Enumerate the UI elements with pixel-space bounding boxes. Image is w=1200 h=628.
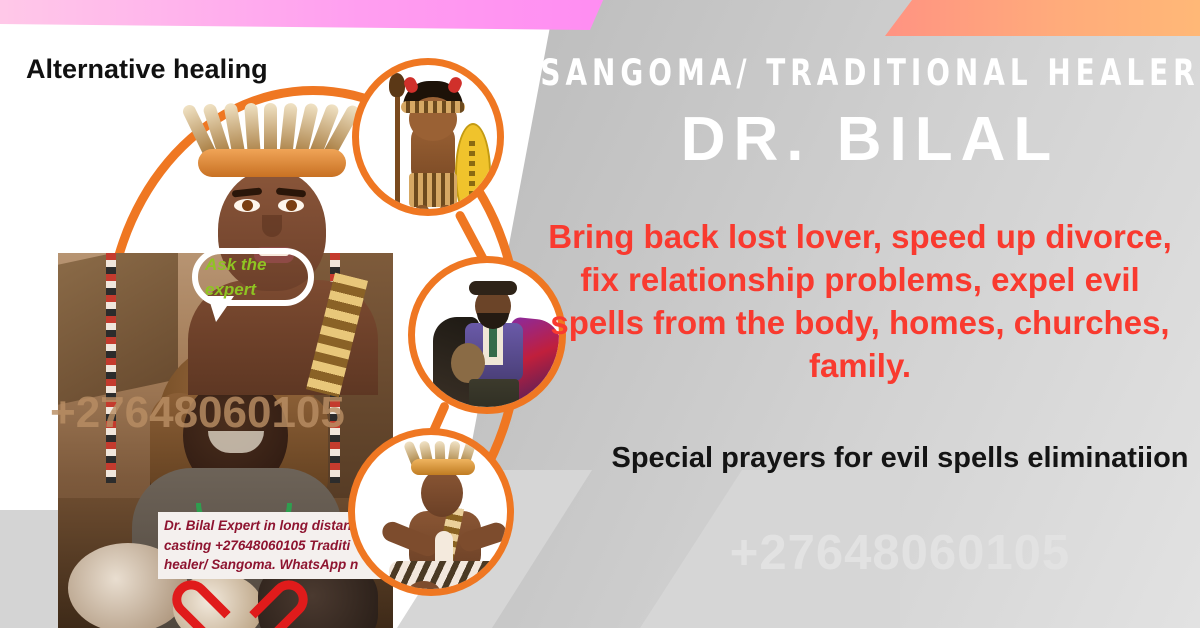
healer-man-sack xyxy=(451,343,485,383)
speech-bubble-text: Ask the expert xyxy=(205,253,315,302)
circle-image-zulu-warrior xyxy=(352,58,504,216)
headline-block: SANGOMA/ TRADITIONAL HEALER DR. BILAL xyxy=(540,52,1200,175)
portrait-nose xyxy=(262,215,282,237)
healer-man-hat xyxy=(469,281,517,295)
page-title: Alternative healing xyxy=(26,54,268,85)
circle-image-crouching-sangoma xyxy=(348,428,514,596)
services-black-text: Special prayers for evil spells eliminat… xyxy=(600,440,1200,477)
warrior-spear-tip xyxy=(389,73,405,97)
healer-man-legs xyxy=(469,379,519,414)
photo-caption-line-3: healer/ Sangoma. WhatsApp n xyxy=(164,555,379,575)
sangoma-head xyxy=(421,469,463,517)
portrait-headband xyxy=(198,149,346,177)
warrior-shield xyxy=(455,123,491,216)
portrait-eye-left xyxy=(234,199,260,212)
warrior-headband xyxy=(401,101,465,113)
decorative-orange-band xyxy=(885,0,1200,36)
services-red-text: Bring back lost lover, speed up divorce,… xyxy=(540,216,1180,388)
warrior-leg-left xyxy=(415,205,429,216)
heart-icon xyxy=(204,583,276,628)
portrait-feather-headdress xyxy=(190,97,360,157)
healer-man-tie xyxy=(489,327,497,357)
phone-watermark: +27648060105 xyxy=(600,525,1200,581)
photo-phone-overlay: +27648060105 xyxy=(50,388,410,438)
photo-caption-line-1: Dr. Bilal Expert in long distan xyxy=(164,516,379,536)
poster-canvas: Alternative healing +27648060105 Dr. Bil… xyxy=(0,0,1200,628)
photo-caption-line-2: casting +27648060105 Traditi xyxy=(164,536,379,556)
sangoma-headband xyxy=(411,459,475,475)
warrior-spear xyxy=(395,81,400,216)
portrait-eye-right xyxy=(278,199,304,212)
background-gray-strip-left xyxy=(0,510,58,628)
warrior-skirt xyxy=(409,173,457,207)
photo-bead-strand-left xyxy=(106,253,116,483)
headline-name: DR. BILAL xyxy=(540,104,1200,175)
headline-kicker: SANGOMA/ TRADITIONAL HEALER xyxy=(540,52,1200,94)
